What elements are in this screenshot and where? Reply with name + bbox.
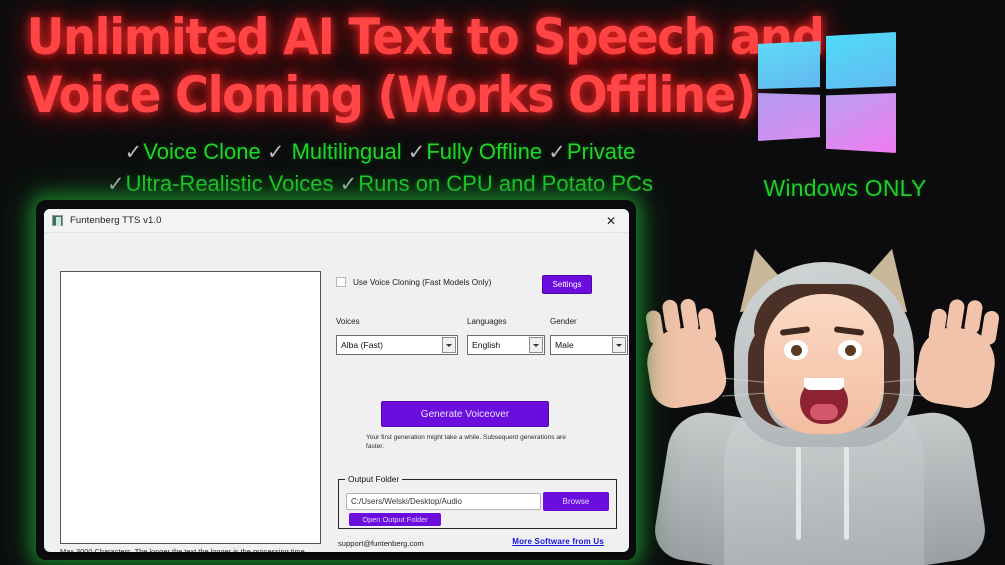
controls-column: Use Voice Cloning (Fast Models Only) Set… [336, 233, 621, 552]
feature-multilingual: Multilingual [292, 139, 402, 164]
headline-line-2: Voice Cloning (Works Offline) [27, 66, 734, 124]
character-illustration [636, 232, 1005, 565]
close-icon[interactable]: ✕ [597, 210, 625, 232]
feature-line-2: ✓Ultra-Realistic Voices ✓Runs on CPU and… [0, 168, 760, 200]
headline-line-1: Unlimited AI Text to Speech and [27, 8, 734, 66]
windows-pane-bottom-left [758, 93, 820, 141]
voice-cloning-row[interactable]: Use Voice Cloning (Fast Models Only) [336, 277, 491, 287]
check-icon: ✓ [125, 141, 144, 164]
support-email: support@funtenberg.com [338, 539, 424, 548]
output-path-value: C:/Users/Welski/Desktop/Audio [347, 497, 462, 506]
promo-headline: Unlimited AI Text to Speech and Voice Cl… [27, 8, 734, 124]
windows-pane-top-right [826, 32, 896, 89]
gender-select[interactable]: Male [550, 335, 628, 355]
chevron-down-icon[interactable] [612, 337, 626, 353]
voice-cloning-label: Use Voice Cloning (Fast Models Only) [353, 278, 491, 287]
feature-runs-on-cpu: Runs on CPU and Potato PCs [358, 171, 653, 196]
generate-voiceover-button[interactable]: Generate Voiceover [381, 401, 549, 427]
voices-value: Alba (Fast) [337, 340, 383, 350]
character-hand-right [912, 323, 999, 412]
chevron-down-icon[interactable] [442, 337, 456, 353]
check-icon: ✓ [340, 173, 359, 196]
languages-select[interactable]: English [467, 335, 545, 355]
voices-select[interactable]: Alba (Fast) [336, 335, 458, 355]
feature-line-1: ✓Voice Clone ✓ Multilingual ✓Fully Offli… [0, 136, 760, 168]
languages-field: Languages English [467, 317, 545, 355]
voices-field: Voices Alba (Fast) [336, 317, 458, 355]
app-icon [52, 215, 63, 226]
more-software-link[interactable]: More Software from Us [512, 537, 604, 546]
character-mouth [800, 378, 848, 424]
generate-hint: Your first generation might take a while… [366, 433, 576, 451]
app-body: Max 3000 Characters. The longer the text… [44, 233, 629, 552]
check-icon: ✓ [548, 141, 567, 164]
output-folder-group: Output Folder C:/Users/Welski/Desktop/Au… [338, 479, 617, 529]
languages-value: English [468, 340, 500, 350]
gender-field: Gender Male [550, 317, 628, 355]
hoodie-drawstring-left [796, 432, 801, 540]
platform-label: Windows ONLY [700, 175, 990, 202]
hoodie-drawstring-right [844, 432, 849, 540]
browse-button[interactable]: Browse [543, 492, 609, 511]
output-path-input[interactable]: C:/Users/Welski/Desktop/Audio [346, 493, 541, 510]
windows-logo-icon [755, 30, 930, 150]
windows-pane-bottom-right [826, 93, 896, 153]
check-icon: ✓ [267, 141, 286, 164]
windows-pane-top-left [758, 41, 820, 89]
gender-value: Male [551, 340, 574, 350]
app-window: Funtenberg TTS v1.0 ✕ Max 3000 Character… [44, 209, 629, 552]
check-icon: ✓ [107, 173, 126, 196]
character-hand-left [642, 323, 729, 412]
character-eye-right [838, 340, 862, 360]
window-title: Funtenberg TTS v1.0 [70, 215, 162, 226]
gender-label: Gender [550, 317, 628, 326]
feature-private: Private [567, 139, 635, 164]
feature-ultra-realistic: Ultra-Realistic Voices [126, 171, 334, 196]
promo-feature-list: ✓Voice Clone ✓ Multilingual ✓Fully Offli… [0, 136, 760, 200]
character-eye-left [784, 340, 808, 360]
feature-fully-offline: Fully Offline [426, 139, 542, 164]
text-input-area[interactable] [60, 271, 321, 544]
settings-button[interactable]: Settings [542, 275, 592, 294]
title-bar: Funtenberg TTS v1.0 ✕ [44, 209, 629, 233]
chevron-down-icon[interactable] [529, 337, 543, 353]
languages-label: Languages [467, 317, 545, 326]
voices-label: Voices [336, 317, 458, 326]
open-output-folder-button[interactable]: Open Output Folder [349, 513, 441, 526]
character-limit-hint: Max 3000 Characters. The longer the text… [60, 547, 330, 552]
feature-voice-clone: Voice Clone [143, 139, 260, 164]
voice-cloning-checkbox[interactable] [336, 277, 346, 287]
check-icon: ✓ [408, 141, 427, 164]
promo-thumbnail: Unlimited AI Text to Speech and Voice Cl… [0, 0, 1005, 565]
output-folder-title: Output Folder [345, 474, 402, 484]
